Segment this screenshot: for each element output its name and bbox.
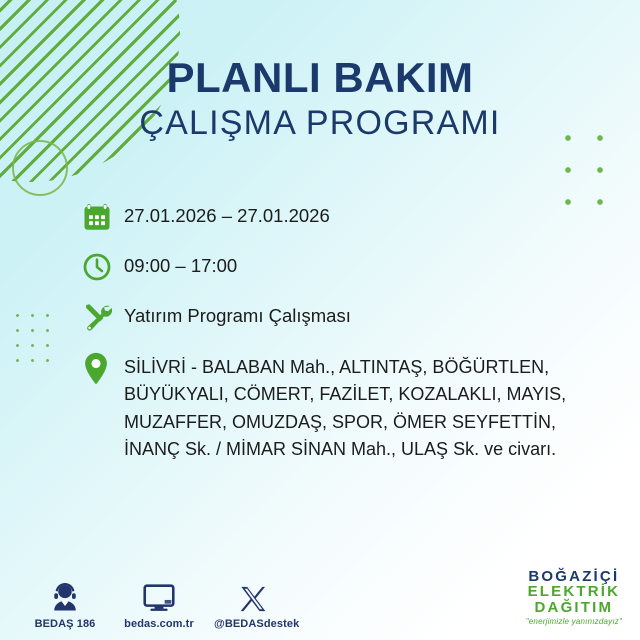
planned-maintenance-poster: PLANLI BAKIM ÇALIŞMA PROGRAMI xyxy=(0,0,640,640)
location-row: SİLİVRİ - BALABAN Mah., ALTINTAŞ, BÖĞÜRT… xyxy=(82,348,622,463)
calendar-icon xyxy=(82,198,124,236)
location-line: İNANÇ Sk. / MİMAR SİNAN Mah., ULAŞ Sk. v… xyxy=(124,436,622,463)
maintenance-details: 27.01.2026 – 27.01.2026 09:00 – 17:00 xyxy=(82,198,622,475)
brand-slogan: "enerjimizle yanınızdayız" xyxy=(526,618,622,626)
location-line: SİLİVRİ - BALABAN Mah., ALTINTAŞ, BÖĞÜRT… xyxy=(124,354,622,381)
location-value: SİLİVRİ - BALABAN Mah., ALTINTAŞ, BÖĞÜRT… xyxy=(124,348,622,463)
date-row: 27.01.2026 – 27.01.2026 xyxy=(82,198,622,236)
time-row: 09:00 – 17:00 xyxy=(82,248,622,286)
location-line: BÜYÜKYALI, CÖMERT, FAZİLET, KOZALAKLI, M… xyxy=(124,381,622,408)
contact-website[interactable]: bedas.com.tr xyxy=(120,579,198,630)
work-type-value: Yatırım Programı Çalışması xyxy=(124,298,622,329)
contact-website-label: bedas.com.tr xyxy=(120,618,198,630)
page-subtitle: ÇALIŞMA PROGRAMI xyxy=(0,104,640,143)
brand-line-1: BOĞAZİÇİ xyxy=(526,569,622,584)
dot-grid-left-decoration xyxy=(8,306,60,372)
call-center-agent-icon xyxy=(26,579,104,613)
tools-icon xyxy=(82,298,124,336)
company-logo: BOĞAZİÇİ ELEKTRİK DAĞITIM "enerjimizle y… xyxy=(526,569,622,626)
clock-icon xyxy=(82,248,124,286)
contact-phone-label: BEDAŞ 186 xyxy=(26,618,104,630)
time-value: 09:00 – 17:00 xyxy=(124,248,622,279)
contact-phone[interactable]: BEDAŞ 186 xyxy=(26,579,104,630)
page-title: PLANLI BAKIM xyxy=(0,56,640,100)
contact-channels: BEDAŞ 186 bedas.com.tr xyxy=(26,579,292,630)
circle-outline-decoration xyxy=(12,140,68,196)
monitor-icon xyxy=(120,579,198,613)
contact-social-label: @BEDASdestek xyxy=(214,618,292,630)
poster-header: PLANLI BAKIM ÇALIŞMA PROGRAMI xyxy=(0,56,640,143)
x-twitter-icon xyxy=(214,579,292,613)
brand-line-3: DAĞITIM xyxy=(526,600,622,615)
location-line: MUZAFFER, OMUZDAŞ, SPOR, ÖMER SEYFETTİN, xyxy=(124,409,622,436)
contact-social[interactable]: @BEDASdestek xyxy=(214,579,292,630)
date-value: 27.01.2026 – 27.01.2026 xyxy=(124,198,622,229)
poster-footer: BEDAŞ 186 bedas.com.tr xyxy=(0,554,640,640)
map-pin-icon xyxy=(82,348,124,388)
brand-line-2: ELEKTRİK xyxy=(526,584,622,599)
work-type-row: Yatırım Programı Çalışması xyxy=(82,298,622,336)
